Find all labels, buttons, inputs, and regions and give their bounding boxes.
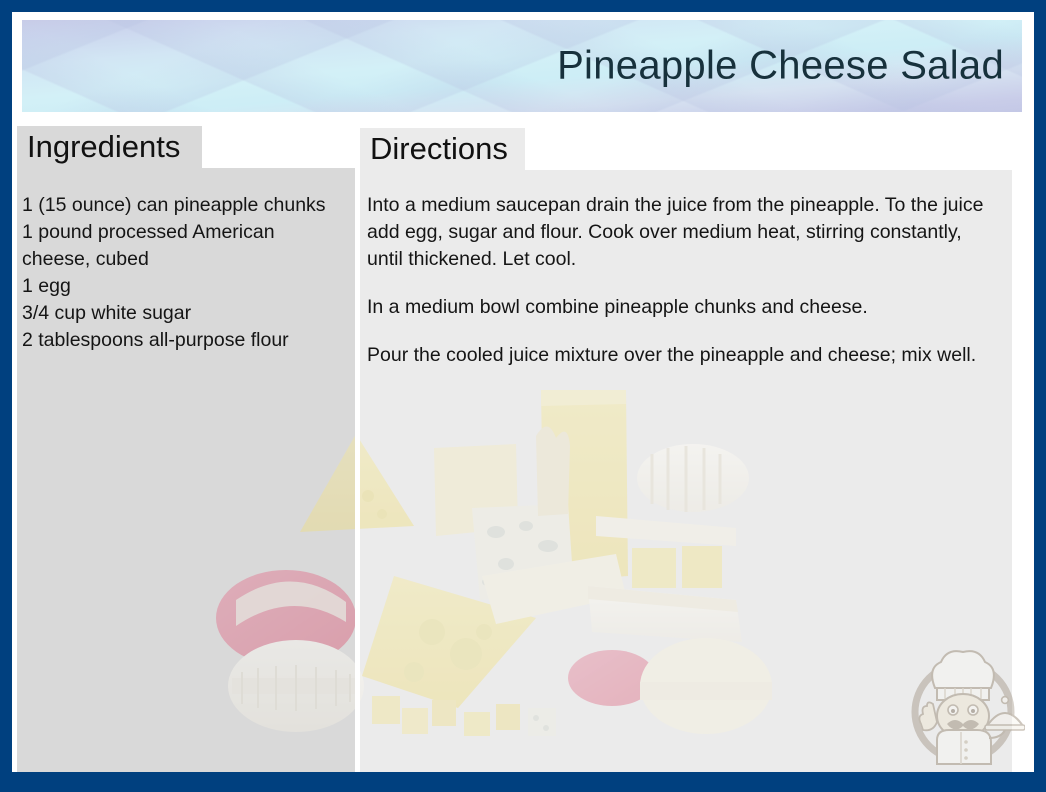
directions-heading: Directions [360, 128, 525, 170]
recipe-slide: Pineapple Cheese Salad [0, 0, 1046, 792]
ingredients-list: 1 (15 ounce) can pineapple chunks 1 poun… [22, 192, 342, 354]
page-title: Pineapple Cheese Salad [557, 44, 1004, 89]
directions-text: Into a medium saucepan drain the juice f… [367, 192, 1002, 369]
ingredients-heading-label: Ingredients [27, 129, 180, 165]
title-banner: Pineapple Cheese Salad [22, 20, 1022, 112]
column-gutter [355, 168, 360, 772]
list-item: 1 (15 ounce) can pineapple chunks [22, 192, 342, 219]
directions-paragraph: In a medium bowl combine pineapple chunk… [367, 294, 1002, 321]
directions-heading-label: Directions [370, 131, 508, 167]
directions-paragraph: Pour the cooled juice mixture over the p… [367, 342, 1002, 369]
list-item: 3/4 cup white sugar [22, 300, 342, 327]
list-item: 1 egg [22, 273, 342, 300]
border-left [0, 0, 12, 792]
list-item: 1 pound processed American cheese, cubed [22, 219, 342, 273]
ingredients-heading: Ingredients [17, 126, 202, 168]
border-right [1034, 0, 1046, 792]
border-bottom [0, 772, 1046, 792]
list-item: 2 tablespoons all-purpose flour [22, 327, 342, 354]
border-top [0, 0, 1046, 12]
directions-paragraph: Into a medium saucepan drain the juice f… [367, 192, 1002, 273]
